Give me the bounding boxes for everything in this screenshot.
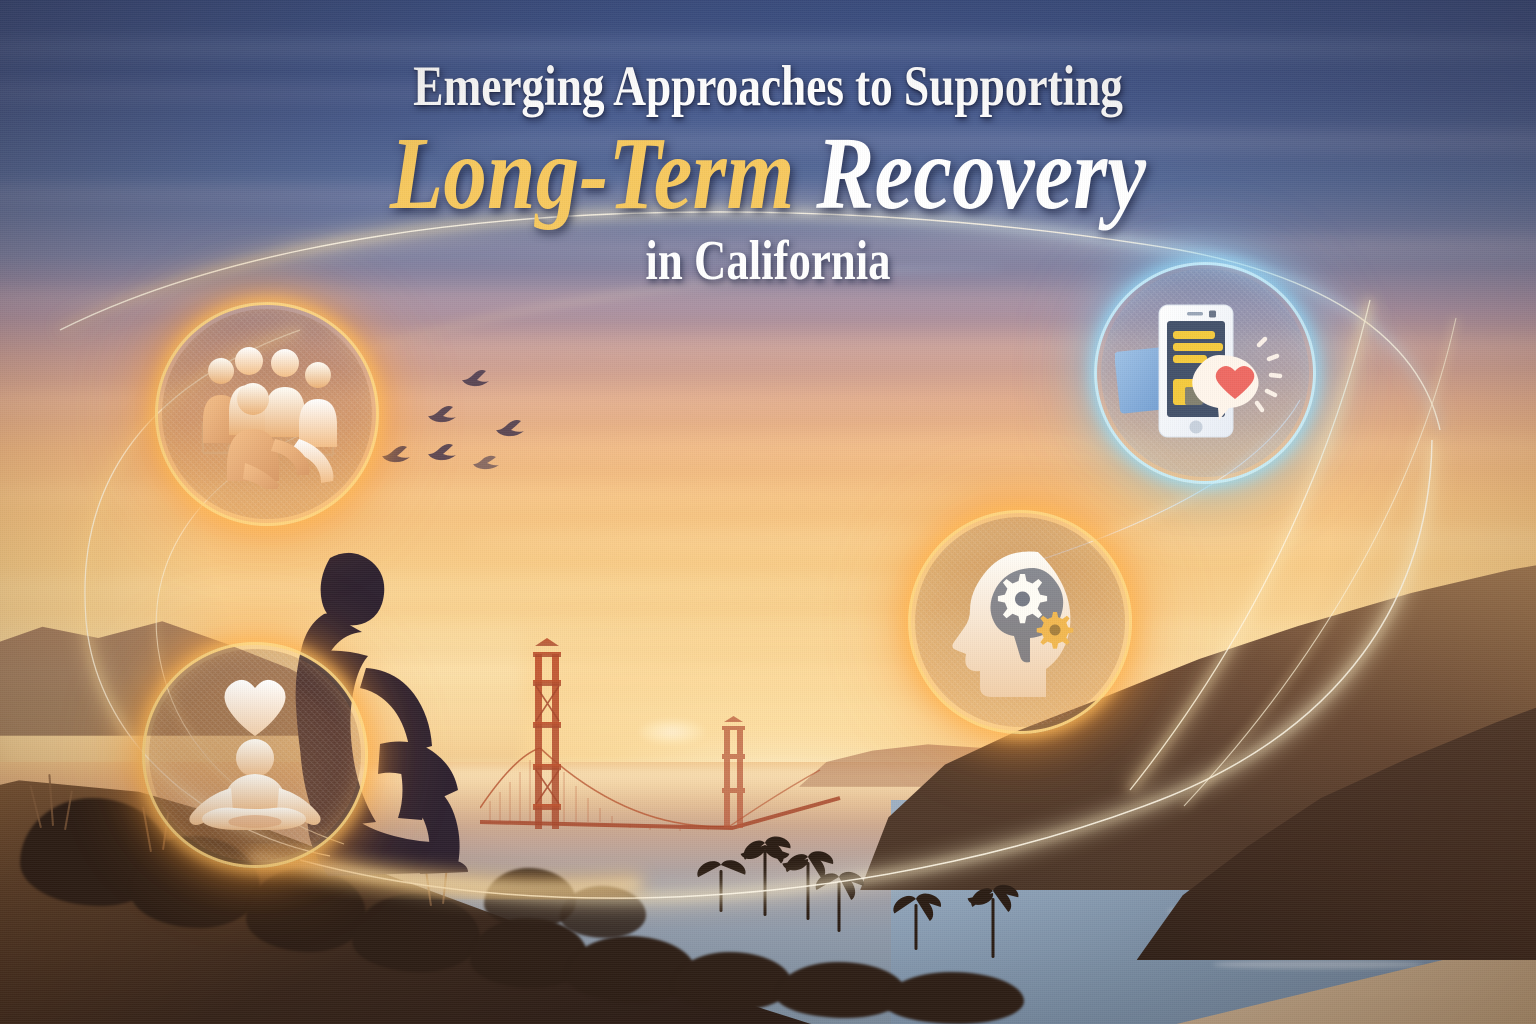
poster-canvas: Emerging Approaches to Supporting Long-T… <box>0 0 1536 1024</box>
bird-flock <box>378 366 558 486</box>
mobile-messaging-icon[interactable] <box>1094 262 1316 484</box>
bubble-inner <box>1101 269 1309 477</box>
title-block: Emerging Approaches to Supporting Long-T… <box>0 58 1536 291</box>
palm-tree <box>900 888 932 950</box>
meditation-heart-icon[interactable] <box>142 642 368 868</box>
support-group-icon[interactable] <box>155 302 379 526</box>
palm-tree <box>745 832 785 916</box>
bubble-inner <box>162 309 372 519</box>
golden-gate-bridge <box>480 636 900 846</box>
bubble-inner <box>149 649 361 861</box>
headline-rest: Recovery <box>816 116 1146 231</box>
headline-line-2: Long-Term Recovery <box>123 122 1413 226</box>
headline-emphasis: Long-Term <box>390 116 794 231</box>
bubble-inner <box>915 517 1125 727</box>
palm-tree <box>822 866 856 932</box>
palm-tree <box>706 854 736 912</box>
headline-line-1: Emerging Approaches to Supporting <box>154 58 1383 116</box>
brain-gears-icon[interactable] <box>908 510 1132 734</box>
palm-tree <box>975 880 1011 958</box>
headline-line-3: in California <box>154 232 1383 291</box>
